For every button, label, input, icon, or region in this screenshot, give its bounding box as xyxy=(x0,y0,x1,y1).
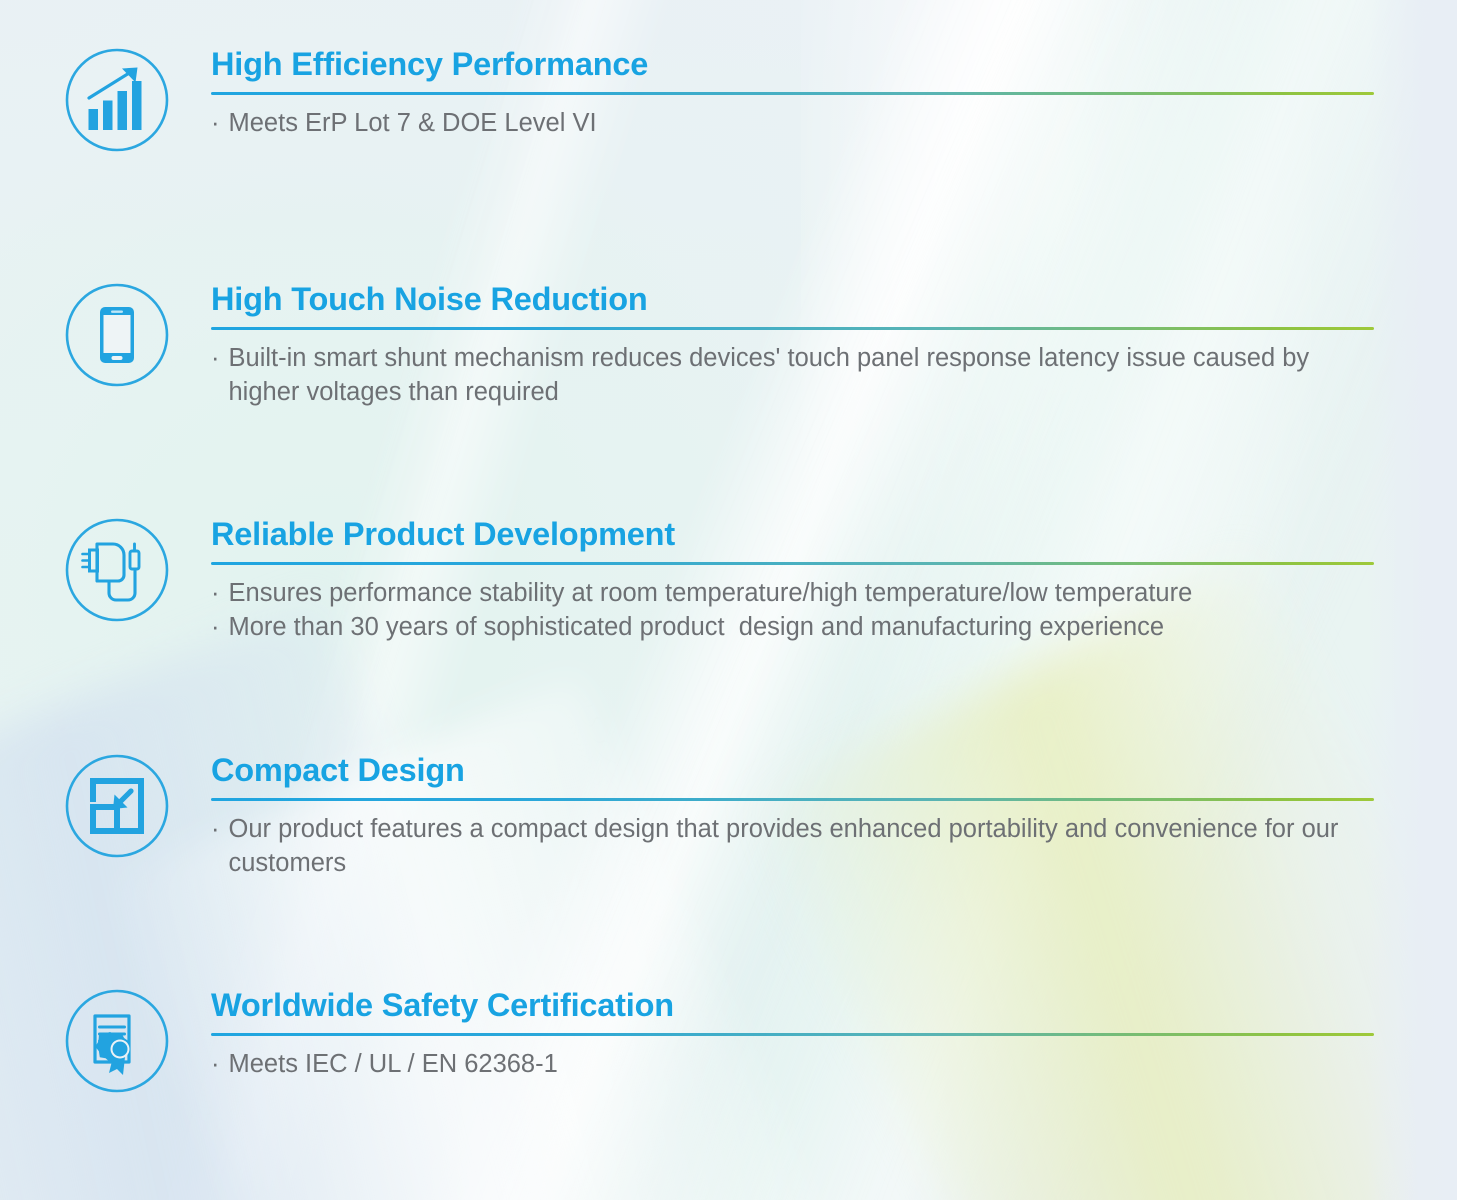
feature-icon-container xyxy=(56,752,178,860)
feature-title: Worldwide Safety Certification xyxy=(211,987,1375,1024)
power-adapter-icon xyxy=(63,516,171,624)
feature-body: Worldwide Safety Certification · Meets I… xyxy=(211,987,1457,1082)
feature-bullets: · Meets IEC / UL / EN 62368-1 xyxy=(211,1048,1375,1082)
bullet-item: · More than 30 years of sophisticated pr… xyxy=(211,611,1375,645)
feature-item: High Touch Noise Reduction · Built-in sm… xyxy=(0,281,1457,409)
feature-title: Reliable Product Development xyxy=(211,516,1375,553)
feature-icon-container xyxy=(56,46,178,154)
feature-body: Compact Design · Our product features a … xyxy=(211,752,1457,880)
feature-body: High Efficiency Performance · Meets ErP … xyxy=(211,46,1457,141)
compact-resize-icon xyxy=(63,752,171,860)
bullet-marker: · xyxy=(211,342,220,376)
bullet-item: · Our product features a compact design … xyxy=(211,813,1375,880)
bullet-marker: · xyxy=(211,577,220,611)
feature-title: Compact Design xyxy=(211,752,1375,789)
bullet-item: · Ensures performance stability at room … xyxy=(211,577,1375,611)
feature-title: High Touch Noise Reduction xyxy=(211,281,1375,318)
bullet-text: Our product features a compact design th… xyxy=(229,813,1376,880)
feature-divider xyxy=(211,327,1374,330)
bar-chart-growth-icon xyxy=(63,46,171,154)
bullet-marker: · xyxy=(211,1048,220,1082)
feature-bullets: · Meets ErP Lot 7 & DOE Level VI xyxy=(211,107,1375,141)
feature-divider xyxy=(211,1033,1374,1036)
feature-bullets: · Built-in smart shunt mechanism reduces… xyxy=(211,342,1375,409)
bullet-item: · Meets IEC / UL / EN 62368-1 xyxy=(211,1048,1375,1082)
feature-item: Worldwide Safety Certification · Meets I… xyxy=(0,987,1457,1095)
feature-divider xyxy=(211,562,1374,565)
feature-item: Compact Design · Our product features a … xyxy=(0,752,1457,880)
bullet-text: Ensures performance stability at room te… xyxy=(229,577,1376,611)
smartphone-icon xyxy=(63,281,171,389)
certificate-award-icon xyxy=(63,987,171,1095)
bullet-marker: · xyxy=(211,611,220,645)
bullet-text: Built-in smart shunt mechanism reduces d… xyxy=(229,342,1376,409)
feature-body: Reliable Product Development · Ensures p… xyxy=(211,516,1457,644)
bullet-text: More than 30 years of sophisticated prod… xyxy=(229,611,1376,645)
feature-item: High Efficiency Performance · Meets ErP … xyxy=(0,46,1457,154)
bullet-marker: · xyxy=(211,813,220,847)
feature-item: Reliable Product Development · Ensures p… xyxy=(0,516,1457,644)
feature-icon-container xyxy=(56,987,178,1095)
bullet-text: Meets IEC / UL / EN 62368-1 xyxy=(229,1048,1376,1082)
feature-bullets: · Our product features a compact design … xyxy=(211,813,1375,880)
feature-body: High Touch Noise Reduction · Built-in sm… xyxy=(211,281,1457,409)
bullet-item: · Meets ErP Lot 7 & DOE Level VI xyxy=(211,107,1375,141)
feature-bullets: · Ensures performance stability at room … xyxy=(211,577,1375,644)
feature-title: High Efficiency Performance xyxy=(211,46,1375,83)
bullet-item: · Built-in smart shunt mechanism reduces… xyxy=(211,342,1375,409)
feature-divider xyxy=(211,798,1374,801)
bullet-marker: · xyxy=(211,107,220,141)
feature-list: High Efficiency Performance · Meets ErP … xyxy=(0,0,1457,1200)
feature-divider xyxy=(211,92,1374,95)
feature-icon-container xyxy=(56,281,178,389)
bullet-text: Meets ErP Lot 7 & DOE Level VI xyxy=(229,107,1376,141)
feature-icon-container xyxy=(56,516,178,624)
